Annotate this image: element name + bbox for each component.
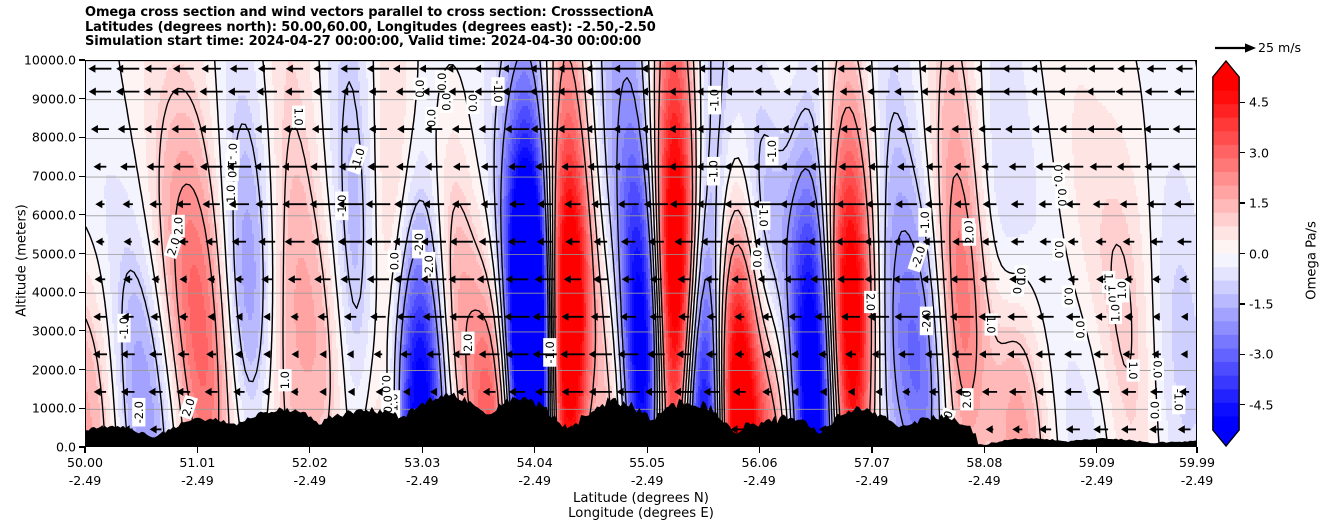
x-tick-label-longitude: -2.49 [1081, 473, 1114, 488]
colorbar-band [1213, 131, 1240, 145]
colorbar-band [1213, 403, 1240, 417]
contour-label: -1.0 [543, 338, 557, 367]
colorbar-band [1213, 294, 1240, 308]
figure-canvas: Omega cross section and wind vectors par… [0, 0, 1320, 526]
x-tick-label-latitude: 54.04 [517, 455, 553, 470]
x-tick-mark [422, 447, 423, 453]
colorbar-tick-label: 4.5 [1249, 95, 1269, 110]
colorbar-band [1213, 349, 1240, 363]
y-tick-label: 9000.0 [32, 91, 76, 106]
y-axis: 0.01000.02000.03000.04000.05000.06000.07… [0, 0, 76, 526]
contour-label: -1.0 [918, 208, 932, 237]
y-tick-label: 8000.0 [32, 130, 76, 145]
y-tick-label: 1000.0 [32, 401, 76, 416]
colorbar-band [1213, 362, 1240, 376]
x-tick-mark [534, 447, 535, 453]
x-tick-label-longitude: -2.49 [856, 473, 889, 488]
colorbar-tick-label: 3.0 [1249, 145, 1269, 160]
colorbar-band [1213, 104, 1240, 118]
x-tick-label-latitude: 53.03 [404, 455, 440, 470]
colorbar-band [1213, 281, 1240, 295]
colorbar-tick-mark [1240, 253, 1245, 254]
y-tick-mark [79, 408, 85, 409]
colorbar-tick-mark [1240, 102, 1245, 103]
contour-label: 0.0 [1014, 265, 1028, 287]
contour-label: 1.0 [1115, 279, 1129, 301]
title-line-3: Simulation start time: 2024-04-27 00:00:… [85, 35, 656, 50]
contour-label: 0.0 [751, 248, 765, 270]
contour-label: 0.0 [435, 71, 449, 93]
colorbar-band [1213, 145, 1240, 159]
contour-label: -2.0 [132, 398, 146, 427]
x-tick-label-longitude: -2.49 [631, 473, 664, 488]
contour-label: -1.0 [224, 182, 238, 211]
colorbar-band [1213, 77, 1240, 91]
x-tick-mark [984, 447, 985, 453]
x-tick-label-latitude: 50.00 [67, 455, 103, 470]
contour-label: -1.0 [706, 157, 720, 186]
x-tick-label-latitude: 59.09 [1079, 455, 1115, 470]
colorbar-tick-label: -4.5 [1249, 397, 1274, 412]
contour-label: 0.0 [440, 91, 454, 113]
contour-label: -1.0 [708, 86, 722, 115]
wind-vector-key-label: 25 m/s [1258, 40, 1301, 55]
x-tick-label-latitude: 56.06 [742, 455, 778, 470]
colorbar-band [1213, 389, 1240, 403]
x-tick-label-latitude: 51.01 [179, 455, 215, 470]
x-axis-label-latitude: Latitude (degrees N) [573, 491, 709, 506]
contour-label: 2.0 [461, 332, 475, 354]
x-axis-label-longitude: Longitude (degrees E) [568, 506, 714, 521]
colorbar-band [1213, 226, 1240, 240]
x-tick-label-longitude: -2.49 [406, 473, 439, 488]
contour-label: 0.0 [413, 78, 427, 100]
colorbar-band [1213, 186, 1240, 200]
colorbar-tick-mark [1240, 303, 1245, 304]
contour-label: 0.0 [1052, 238, 1066, 260]
x-tick-label-latitude: 55.05 [629, 455, 665, 470]
contour-label: 0.0 [1052, 162, 1066, 184]
y-tick-mark [79, 176, 85, 177]
y-tick-label: 4000.0 [32, 285, 76, 300]
colorbar-tick-mark [1240, 354, 1245, 355]
colorbar-band [1213, 172, 1240, 186]
colorbar-band [1213, 158, 1240, 172]
x-tick-mark [1196, 447, 1197, 453]
contour-label: 1.0 [292, 106, 306, 128]
colorbar-tick-label: 0.0 [1249, 246, 1269, 261]
contour-label: -2.0 [920, 307, 934, 336]
x-tick-label-longitude: -2.49 [968, 473, 1001, 488]
y-tick-mark [79, 253, 85, 254]
x-tick-mark [647, 447, 648, 453]
y-tick-label: 6000.0 [32, 207, 76, 222]
x-tick-label-longitude: -2.49 [294, 473, 327, 488]
x-tick-label-longitude: -2.49 [518, 473, 551, 488]
x-tick-label-latitude: 58.08 [966, 455, 1002, 470]
right-arrow-icon [1212, 38, 1258, 60]
plot-area: 1.00.00.0-2.0-1.00.00.0-1.0-1.02.0-2.01.… [85, 60, 1197, 447]
colorbar-tick-mark [1240, 404, 1245, 405]
x-tick-label-latitude: 59.99 [1179, 455, 1215, 470]
y-tick-mark [79, 214, 85, 215]
colorbar-band [1213, 118, 1240, 132]
colorbar-band [1213, 321, 1240, 335]
y-tick-mark [79, 59, 85, 60]
title-line-2: Latitudes (degrees north): 50.00,60.00, … [85, 21, 656, 36]
colorbar-band [1213, 335, 1240, 349]
y-tick-mark [79, 369, 85, 370]
y-axis-label: Altitude (meters) [15, 161, 30, 361]
x-tick-label-latitude: 52.02 [292, 455, 328, 470]
colorbar-band [1213, 240, 1240, 254]
colorbar-label: Omega Pa/s [1305, 171, 1320, 351]
colorbar-extend-min [1213, 430, 1240, 447]
colorbar-band [1213, 416, 1240, 430]
y-tick-mark [79, 98, 85, 99]
contour-label: 1.0 [278, 369, 292, 391]
wind-vector-key: 25 m/s [1212, 38, 1320, 60]
x-tick-mark [197, 447, 198, 453]
contour-label: 0.0 [1073, 319, 1087, 341]
title-line-1: Omega cross section and wind vectors par… [85, 6, 656, 21]
colorbar-tick-label: -3.0 [1249, 347, 1274, 362]
colorbar [1212, 60, 1240, 447]
x-tick-mark [309, 447, 310, 453]
colorbar-tick-label: -1.5 [1249, 296, 1274, 311]
y-tick-label: 2000.0 [32, 362, 76, 377]
colorbar-band [1213, 267, 1240, 281]
y-tick-label: 0.0 [56, 440, 76, 455]
contour-label: 0.0 [1055, 186, 1069, 208]
omega-filled-contours [86, 61, 1197, 447]
colorbar-swatches [1212, 60, 1240, 447]
chart-title: Omega cross section and wind vectors par… [85, 6, 656, 50]
x-tick-label-longitude: -2.49 [181, 473, 214, 488]
x-tick-label-latitude: 57.07 [854, 455, 890, 470]
y-tick-mark [79, 330, 85, 331]
contour-label: 0.0 [1061, 285, 1075, 307]
y-tick-label: 7000.0 [32, 169, 76, 184]
colorbar-band [1213, 213, 1240, 227]
x-tick-mark [759, 447, 760, 453]
colorbar-band [1213, 376, 1240, 390]
contour-label: -2.0 [422, 252, 436, 281]
contour-label: -1.0 [765, 137, 779, 166]
contour-label: 0.0 [1150, 358, 1164, 380]
colorbar-tick-mark [1240, 152, 1245, 153]
colorbar-band [1213, 308, 1240, 322]
y-tick-label: 5000.0 [32, 246, 76, 261]
cross-section-plot: 1.00.00.0-2.0-1.00.00.0-1.0-1.02.0-2.01.… [86, 61, 1197, 447]
colorbar-extend-max [1213, 60, 1240, 77]
contour-label: 0.0 [466, 92, 480, 114]
x-tick-mark [84, 447, 85, 453]
colorbar-band [1213, 91, 1240, 105]
contour-label: 1.0 [1109, 302, 1123, 324]
contour-label: 2.0 [864, 291, 878, 313]
x-tick-label-longitude: -2.49 [69, 473, 102, 488]
colorbar-tick-mark [1240, 202, 1245, 203]
contour-label: 0.0 [387, 250, 401, 272]
x-tick-mark [871, 447, 872, 453]
contour-label: 1.0 [1126, 359, 1140, 381]
y-tick-label: 10000.0 [24, 53, 76, 68]
contour-label: 2.0 [171, 215, 185, 237]
y-tick-label: 3000.0 [32, 323, 76, 338]
colorbar-tick-label: 1.5 [1249, 196, 1269, 211]
x-tick-label-longitude: -2.49 [743, 473, 776, 488]
y-tick-mark [79, 292, 85, 293]
colorbar-band [1213, 254, 1240, 268]
colorbar-band [1213, 199, 1240, 213]
x-tick-mark [1096, 447, 1097, 453]
x-tick-label-longitude: -2.49 [1181, 473, 1214, 488]
contour-label: 0.0 [1148, 399, 1162, 421]
y-tick-mark [79, 137, 85, 138]
